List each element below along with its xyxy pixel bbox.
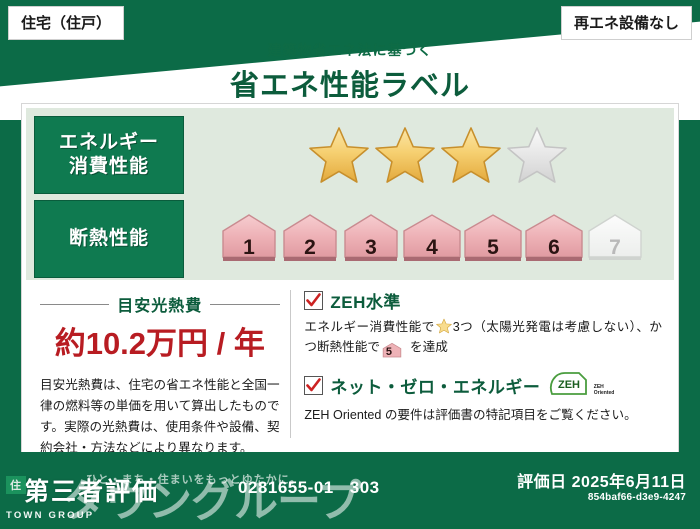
check-body-zeh-level: エネルギー消費性能で 3つ（太陽光発電は考慮しない）、かつ断熱性能で 5を達成 <box>304 317 662 362</box>
zeh-logo-badge: ZEH ZEH Oriented <box>549 370 614 401</box>
svg-text:ZEH: ZEH <box>558 379 580 391</box>
house-icon-1: 1 <box>219 211 279 268</box>
house-number-3: 3 <box>341 236 401 260</box>
star-icon-filled-3 <box>440 125 502 185</box>
footer-evaluation-date: 評価日 2025年6月11日 <box>517 468 686 492</box>
cost-heading-text: 目安光熱費 <box>117 292 202 316</box>
cost-heading: 目安光熱費 <box>40 292 280 316</box>
star-icon-empty-4 <box>506 125 568 185</box>
house-number-6: 6 <box>524 236 584 260</box>
house-number-1: 1 <box>219 236 279 260</box>
checkbox-checked-icon[interactable] <box>304 291 323 310</box>
star-icon-filled-1 <box>308 125 370 185</box>
house-number-2: 2 <box>280 236 340 260</box>
cost-rule-left <box>40 304 109 305</box>
star-rating <box>308 125 568 185</box>
watermark-tagline: ひと・まち・住まいをもっとゆたかに。 <box>86 471 302 487</box>
cost-section: 目安光熱費 約10.2万円 / 年 目安光熱費は、住宅の省エネ性能と全国一律の燃… <box>26 284 290 448</box>
house-icon-7: 7 <box>585 211 645 268</box>
zeh-badge-subtext: ZEH Oriented <box>594 384 615 397</box>
tag-renewable-equipment: 再エネ設備なし <box>561 6 692 40</box>
insulation-performance-label: 断熱性能 <box>34 200 184 278</box>
check-head-zeh-level: ZEH水準 <box>304 288 662 313</box>
energy-performance-label: エネルギー 消費性能 <box>34 116 184 194</box>
check-body-part3: を達成 <box>410 340 448 354</box>
cost-rule-right <box>210 304 279 305</box>
check-item-zeh-level: ZEH水準 エネルギー消費性能で 3つ（太陽光発電は考慮しない）、かつ断熱性能で… <box>304 288 662 362</box>
house-rating: 1 2 <box>219 211 645 268</box>
check-title-zeh-level: ZEH水準 <box>330 288 401 313</box>
energy-performance-value <box>184 116 666 194</box>
house-icon-2: 2 <box>280 211 340 268</box>
checkbox-checked-icon-2[interactable] <box>304 376 323 395</box>
insulation-label-text: 断熱性能 <box>69 227 149 251</box>
check-body-part1: エネルギー消費性能で <box>304 320 434 334</box>
zeh-sub1: ZEH <box>594 384 604 390</box>
house-icon-4: 4 <box>402 211 462 268</box>
checks-section: ZEH水準 エネルギー消費性能で 3つ（太陽光発電は考慮しない）、かつ断熱性能で… <box>290 284 674 448</box>
watermark-brand-mark: 住 <box>6 476 26 494</box>
insulation-performance-value: 1 2 <box>184 200 666 278</box>
energy-label-line1: エネルギー <box>59 131 159 155</box>
label-card: エネルギー 消費性能 <box>22 104 678 452</box>
house-icon-3: 3 <box>341 211 401 268</box>
rating-panel: エネルギー 消費性能 <box>26 108 674 280</box>
check-head-net-zero: ネット・ゼロ・エネルギー ZEH ZEH Oriented <box>304 370 662 401</box>
row-energy-performance: エネルギー 消費性能 <box>34 116 666 194</box>
tag-housing-type: 住宅（住戸） <box>8 6 124 40</box>
house-icon-5: 5 <box>463 211 523 268</box>
lower-section: 目安光熱費 約10.2万円 / 年 目安光熱費は、住宅の省エネ性能と全国一律の燃… <box>26 280 674 448</box>
inline-star-icon <box>436 318 452 334</box>
check-item-net-zero-energy: ネット・ゼロ・エネルギー ZEH ZEH Oriented <box>304 370 662 425</box>
star-icon-filled-2 <box>374 125 436 185</box>
title-block: 建築物省エネ法に基づく 省エネ性能ラベル <box>0 40 700 104</box>
row-insulation-performance: 断熱性能 1 <box>34 200 666 278</box>
check-body-net-zero: ZEH Oriented の要件は評価書の特記項目をご覧ください。 <box>304 405 662 425</box>
inline-house-number: 5 <box>386 346 392 358</box>
energy-label-line2: 消費性能 <box>69 155 149 179</box>
page-title: 省エネ性能ラベル <box>0 62 700 104</box>
cost-note: 目安光熱費は、住宅の省エネ性能と全国一律の燃料等の単価を用いて算出したものです。… <box>40 375 280 460</box>
inline-house-badge: 5 <box>382 344 408 358</box>
house-icon-6: 6 <box>524 211 584 268</box>
title-subtitle: 建築物省エネ法に基づく <box>0 40 700 60</box>
footer-uuid: 854baf66-d3e9-4247 <box>588 492 686 503</box>
house-number-4: 4 <box>402 236 462 260</box>
energy-label-poster: 住宅（住戸） 再エネ設備なし 建築物省エネ法に基づく 省エネ性能ラベル エネルギ… <box>0 0 700 525</box>
check-title-net-zero: ネット・ゼロ・エネルギー <box>330 373 540 398</box>
house-number-7: 7 <box>585 236 645 260</box>
house-number-5: 5 <box>463 236 523 260</box>
zeh-sub2: Oriented <box>594 390 615 396</box>
cost-value: 約10.2万円 / 年 <box>40 318 280 363</box>
